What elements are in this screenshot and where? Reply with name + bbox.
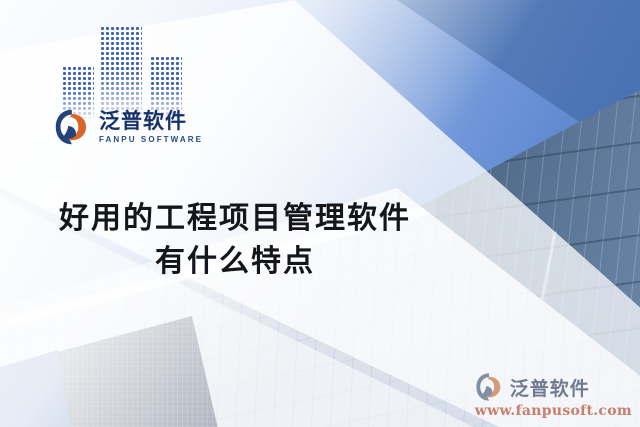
headline: 好用的工程项目管理软件 有什么特点: [0, 198, 470, 283]
fanpu-watermark-mark-icon: [475, 372, 505, 402]
skyline-tower-center: [100, 26, 142, 118]
fanpu-logo-mark-icon: [54, 108, 92, 146]
pixel-skyline-icon: [62, 26, 184, 118]
brand-name-en: FANPU SOFTWARE: [99, 135, 203, 144]
brand-name-cn: 泛普软件: [99, 110, 203, 132]
watermark-brand-cn: 泛普软件: [510, 374, 590, 401]
headline-line-1: 好用的工程项目管理软件: [59, 201, 411, 236]
headline-line-2: 有什么特点: [0, 241, 470, 284]
promo-banner: 泛普软件 FANPU SOFTWARE 好用的工程项目管理软件 有什么特点 泛普…: [0, 0, 640, 427]
watermark-url: www.fanpusoft.com: [475, 403, 632, 419]
watermark: 泛普软件 www.fanpusoft.com: [475, 372, 632, 419]
brand-logo: 泛普软件 FANPU SOFTWARE: [54, 108, 203, 146]
brand-wordmark: 泛普软件 FANPU SOFTWARE: [99, 110, 203, 143]
